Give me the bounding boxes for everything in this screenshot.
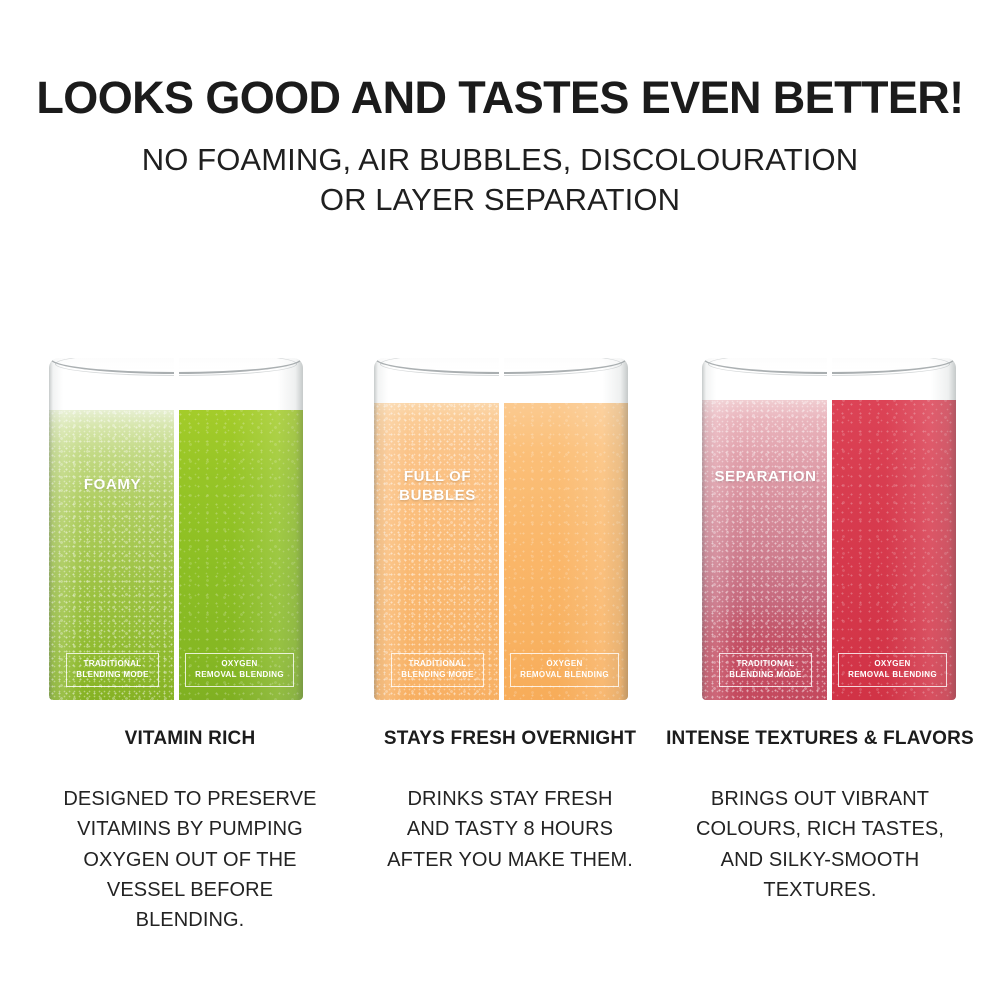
- badge-oxygen-line-2: REMOVAL BLENDING: [195, 670, 284, 679]
- caption-body-2-line-1: DRINKS STAY FRESH: [330, 784, 690, 814]
- split-divider-red: [827, 330, 832, 700]
- caption-column-vitamin-rich: VITAMIN RICH DESIGNED TO PRESERVE VITAMI…: [10, 728, 370, 936]
- badge-traditional-line-2: BLENDING MODE: [401, 670, 474, 679]
- comparison-glass-red: SEPARATION TRADITIONAL BLENDING MODE OXY…: [702, 330, 956, 700]
- badge-traditional-red: TRADITIONAL BLENDING MODE: [719, 653, 812, 687]
- status-label-green: FOAMY: [49, 476, 176, 495]
- caption-body-3: BRINGS OUT VIBRANT COLOURS, RICH TASTES,…: [640, 784, 1000, 906]
- status-label-orange-line-2: BUBBLES: [399, 487, 476, 504]
- caption-body-1-line-2: VITAMINS BY PUMPING: [10, 814, 370, 844]
- caption-column-stays-fresh: STAYS FRESH OVERNIGHT DRINKS STAY FRESH …: [330, 728, 690, 875]
- caption-title-1: VITAMIN RICH: [10, 728, 370, 751]
- subtitle-line-2: OR LAYER SEPARATION: [0, 180, 1000, 220]
- badge-traditional-line-1: TRADITIONAL: [736, 659, 794, 668]
- status-label-green-line-1: FOAMY: [84, 476, 141, 493]
- comparison-glass-green: FOAMY TRADITIONAL BLENDING MODE OXYGEN R…: [49, 330, 303, 700]
- badge-oxygen-green: OXYGEN REMOVAL BLENDING: [185, 653, 294, 687]
- badge-oxygen-line-1: OXYGEN: [546, 659, 582, 668]
- badge-oxygen-line-1: OXYGEN: [874, 659, 910, 668]
- badge-traditional-orange: TRADITIONAL BLENDING MODE: [391, 653, 484, 687]
- status-label-orange: FULL OF BUBBLES: [374, 468, 501, 506]
- badge-traditional-line-1: TRADITIONAL: [83, 659, 141, 668]
- badge-slot-oxygen-green: OXYGEN REMOVAL BLENDING: [176, 653, 303, 687]
- comparison-glass-orange: FULL OF BUBBLES TRADITIONAL BLENDING MOD…: [374, 330, 628, 700]
- badge-oxygen-line-2: REMOVAL BLENDING: [848, 670, 937, 679]
- caption-body-3-line-2: COLOURS, RICH TASTES,: [640, 814, 1000, 844]
- status-label-orange-line-1: FULL OF: [404, 468, 471, 485]
- caption-title-3: INTENSE TEXTURES & FLAVORS: [640, 728, 1000, 751]
- status-label-red-line-1: SEPARATION: [714, 468, 816, 485]
- split-divider-orange: [499, 330, 504, 700]
- infographic-page: LOOKS GOOD AND TASTES EVEN BETTER! NO FO…: [0, 0, 1000, 1000]
- caption-body-3-line-3: AND SILKY-SMOOTH: [640, 845, 1000, 875]
- split-divider-green: [174, 330, 179, 700]
- badge-group-red: TRADITIONAL BLENDING MODE OXYGEN REMOVAL…: [702, 653, 956, 687]
- caption-title-2: STAYS FRESH OVERNIGHT: [330, 728, 690, 751]
- badge-traditional-line-2: BLENDING MODE: [76, 670, 149, 679]
- badge-traditional-line-2: BLENDING MODE: [729, 670, 802, 679]
- badge-oxygen-line-1: OXYGEN: [221, 659, 257, 668]
- badge-oxygen-line-2: REMOVAL BLENDING: [520, 670, 609, 679]
- badge-group-green: TRADITIONAL BLENDING MODE OXYGEN REMOVAL…: [49, 653, 303, 687]
- caption-body-2-line-3: AFTER YOU MAKE THEM.: [330, 845, 690, 875]
- caption-body-3-line-1: BRINGS OUT VIBRANT: [640, 784, 1000, 814]
- badge-slot-oxygen-red: OXYGEN REMOVAL BLENDING: [829, 653, 956, 687]
- caption-body-2-line-2: AND TASTY 8 HOURS: [330, 814, 690, 844]
- badge-slot-oxygen-orange: OXYGEN REMOVAL BLENDING: [501, 653, 628, 687]
- caption-body-1-line-1: DESIGNED TO PRESERVE: [10, 784, 370, 814]
- badge-slot-traditional-red: TRADITIONAL BLENDING MODE: [702, 653, 829, 687]
- page-subtitle: NO FOAMING, AIR BUBBLES, DISCOLOURATION …: [0, 140, 1000, 219]
- caption-row: VITAMIN RICH DESIGNED TO PRESERVE VITAMI…: [0, 728, 1000, 978]
- status-label-red: SEPARATION: [702, 468, 829, 487]
- page-title: LOOKS GOOD AND TASTES EVEN BETTER!: [0, 74, 1000, 121]
- badge-slot-traditional-orange: TRADITIONAL BLENDING MODE: [374, 653, 501, 687]
- subtitle-line-1: NO FOAMING, AIR BUBBLES, DISCOLOURATION: [0, 140, 1000, 180]
- caption-body-1-line-3: OXYGEN OUT OF THE: [10, 845, 370, 875]
- caption-body-2: DRINKS STAY FRESH AND TASTY 8 HOURS AFTE…: [330, 784, 690, 875]
- caption-body-3-line-4: TEXTURES.: [640, 875, 1000, 905]
- caption-column-intense-textures: INTENSE TEXTURES & FLAVORS BRINGS OUT VI…: [640, 728, 1000, 905]
- badge-traditional-green: TRADITIONAL BLENDING MODE: [66, 653, 159, 687]
- caption-body-1-line-4: VESSEL BEFORE: [10, 875, 370, 905]
- badge-slot-traditional-green: TRADITIONAL BLENDING MODE: [49, 653, 176, 687]
- badge-oxygen-red: OXYGEN REMOVAL BLENDING: [838, 653, 947, 687]
- caption-body-1: DESIGNED TO PRESERVE VITAMINS BY PUMPING…: [10, 784, 370, 936]
- badge-traditional-line-1: TRADITIONAL: [408, 659, 466, 668]
- badge-group-orange: TRADITIONAL BLENDING MODE OXYGEN REMOVAL…: [374, 653, 628, 687]
- badge-oxygen-orange: OXYGEN REMOVAL BLENDING: [510, 653, 619, 687]
- caption-body-1-line-5: BLENDING.: [10, 905, 370, 935]
- glass-comparison-row: FOAMY TRADITIONAL BLENDING MODE OXYGEN R…: [0, 330, 1000, 700]
